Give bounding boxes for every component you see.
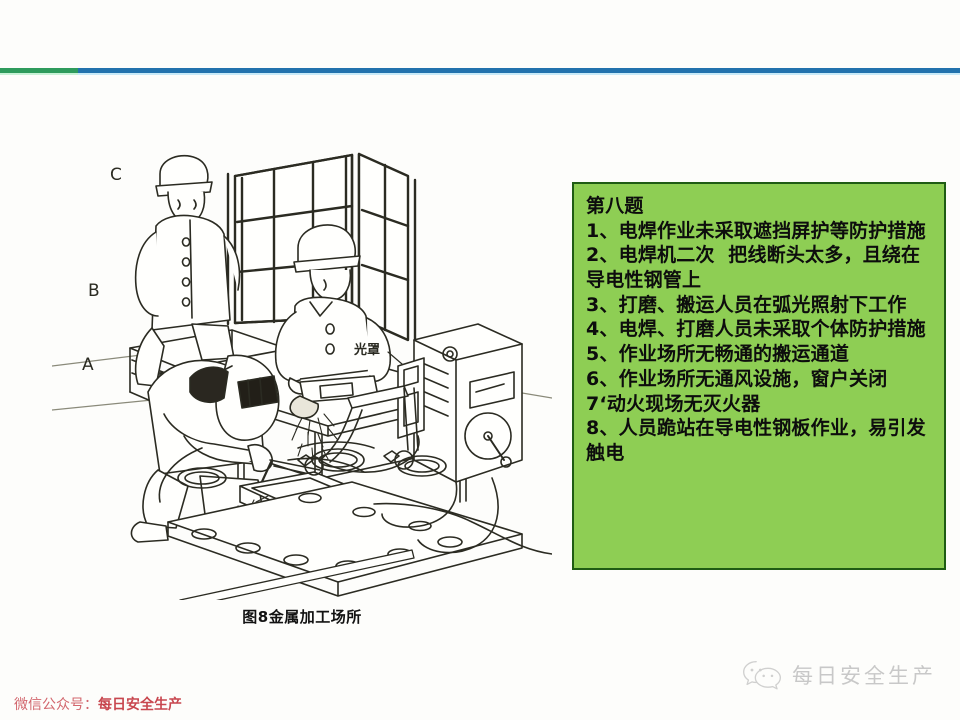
brand-name: 每日安全生产 [792, 660, 936, 690]
findings-item-7: 7‘动火现场无灭火器 [586, 392, 936, 417]
findings-item-6: 6、作业场所无通风设施，窗户关闭 [586, 367, 936, 392]
callout-label-b: B [88, 281, 100, 301]
top-accent-rule-glow [0, 73, 960, 75]
wechat-icon [742, 658, 782, 692]
machine-note-label: 光罩 [353, 342, 380, 358]
slide-canvas: C [0, 0, 960, 720]
findings-item-1: 1、电焊作业未采取遮挡屏护等防护措施 [586, 219, 936, 244]
callout-label-a: A [82, 355, 94, 375]
findings-item-5: 5、作业场所无畅通的搬运通道 [586, 342, 936, 367]
findings-heading: 第八题 [586, 194, 936, 219]
wechat-account-note: 微信公众号：每日安全生产 [14, 694, 182, 714]
illustration-caption: 图8金属加工场所 [52, 606, 552, 627]
findings-item-8: 8、人员跪站在导电性钢板作业，易引发触电 [586, 416, 936, 465]
window-right-section [359, 154, 415, 344]
findings-item-2: 2、电焊机二次 把线断头太多，且绕在导电性钢管上 [586, 243, 936, 292]
wechat-account-label: 微信公众号： [14, 697, 98, 713]
findings-panel: 第八题 1、电焊作业未采取遮挡屏护等防护措施 2、电焊机二次 把线断头太多，且绕… [572, 182, 946, 570]
brand-watermark: 每日安全生产 [742, 658, 936, 692]
findings-item-4: 4、电焊、打磨人员未采取个体防护措施 [586, 317, 936, 342]
workshop-illustration: C [52, 130, 552, 600]
callout-label-c: C [110, 165, 122, 185]
findings-item-3: 3、打磨、搬运人员在弧光照射下工作 [586, 293, 936, 318]
wechat-account-name: 每日安全生产 [98, 697, 182, 713]
